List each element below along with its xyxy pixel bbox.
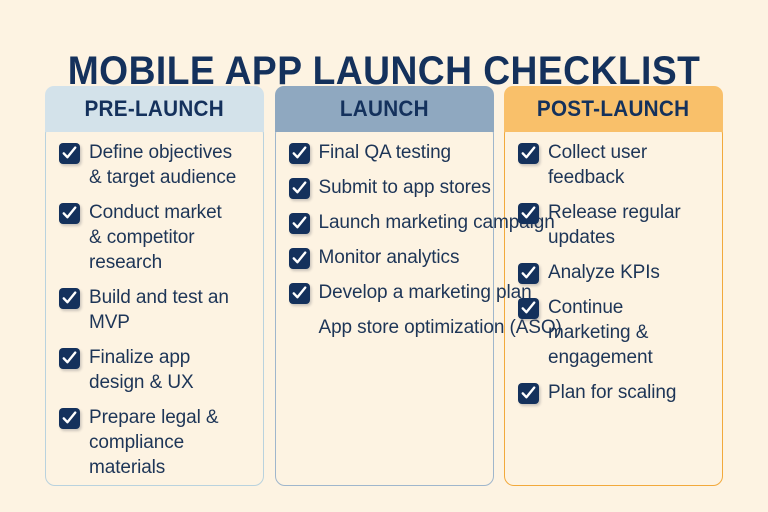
checklist-item[interactable]: Develop a marketing plan (289, 280, 494, 305)
checklist-item[interactable]: Release regular updates (518, 200, 721, 250)
checkbox-checked-icon[interactable] (59, 288, 80, 309)
checklist-item-label: Submit to app stores (319, 175, 491, 200)
checklist-item[interactable]: Conduct market & competitor research (59, 200, 262, 275)
card-header-post-launch: POST-LAUNCH (504, 86, 723, 132)
checkbox-checked-icon[interactable] (518, 143, 539, 164)
checkbox-checked-icon[interactable] (59, 408, 80, 429)
checklist-card-post-launch: POST-LAUNCHCollect user feedbackRelease … (504, 86, 723, 488)
checklist-item[interactable]: Define objectives & target audience (59, 140, 262, 190)
checkbox-checked-icon[interactable] (289, 248, 310, 269)
checkbox-checked-icon[interactable] (289, 283, 310, 304)
checklist-item-label: Collect user feedback (548, 140, 647, 190)
checklist-item-label: Analyze KPIs (548, 260, 660, 285)
checklist-item-label: Release regular updates (548, 200, 681, 250)
checklist-item-label: Plan for scaling (548, 380, 676, 405)
checkbox-checked-icon[interactable] (59, 203, 80, 224)
checkbox-checked-icon[interactable] (518, 298, 539, 319)
checklist-item[interactable]: Launch marketing campaign (289, 210, 494, 235)
checklist-item[interactable]: Finalize app design & UX (59, 345, 262, 395)
checklist-item-label: Final QA testing (319, 140, 452, 165)
card-header-label: PRE-LAUNCH (85, 96, 225, 122)
checklist-item[interactable]: App store optimization (ASO) (289, 315, 494, 340)
checklist-item[interactable]: Build and test an MVP (59, 285, 262, 335)
checkbox-checked-icon[interactable] (518, 203, 539, 224)
card-header-pre-launch: PRE-LAUNCH (45, 86, 264, 132)
checklist-items: Define objectives & target audienceCondu… (45, 132, 264, 480)
checklist-item-label: Build and test an MVP (89, 285, 229, 335)
checklist-items: Final QA testingSubmit to app storesLaun… (275, 132, 494, 340)
checklist-item-label: Conduct market & competitor research (89, 200, 222, 275)
checklist-item-label: Prepare legal & compliance materials (89, 405, 218, 480)
checkbox-checked-icon[interactable] (289, 143, 310, 164)
card-header-label: LAUNCH (339, 96, 428, 122)
checklist-item[interactable]: Continue marketing & engagement (518, 295, 721, 370)
checkbox-checked-icon[interactable] (518, 383, 539, 404)
checklist-item[interactable]: Prepare legal & compliance materials (59, 405, 262, 480)
checklist-item-label: Monitor analytics (319, 245, 460, 270)
checklist-item[interactable]: Collect user feedback (518, 140, 721, 190)
checklist-item-label: Develop a marketing plan (319, 280, 532, 305)
checkbox-checked-icon[interactable] (289, 178, 310, 199)
checklist-item[interactable]: Analyze KPIs (518, 260, 721, 285)
checkbox-checked-icon[interactable] (518, 263, 539, 284)
checklist-item-label: Define objectives & target audience (89, 140, 236, 190)
checklist-item-label: Continue marketing & engagement (548, 295, 653, 370)
checklist-card-pre-launch: PRE-LAUNCHDefine objectives & target aud… (45, 86, 264, 488)
checkbox-checked-icon[interactable] (59, 348, 80, 369)
checklist-columns: PRE-LAUNCHDefine objectives & target aud… (45, 86, 723, 488)
card-header-label: POST-LAUNCH (537, 96, 689, 122)
checklist-item[interactable]: Plan for scaling (518, 380, 721, 405)
checkbox-checked-icon[interactable] (59, 143, 80, 164)
checklist-item-label: Finalize app design & UX (89, 345, 194, 395)
checklist-item[interactable]: Final QA testing (289, 140, 494, 165)
checkbox-checked-icon[interactable] (289, 213, 310, 234)
checklist-item[interactable]: Submit to app stores (289, 175, 494, 200)
checklist-items: Collect user feedbackRelease regular upd… (504, 132, 723, 405)
checklist-item[interactable]: Monitor analytics (289, 245, 494, 270)
checklist-card-launch: LAUNCHFinal QA testingSubmit to app stor… (275, 86, 494, 488)
card-header-launch: LAUNCH (275, 86, 494, 132)
